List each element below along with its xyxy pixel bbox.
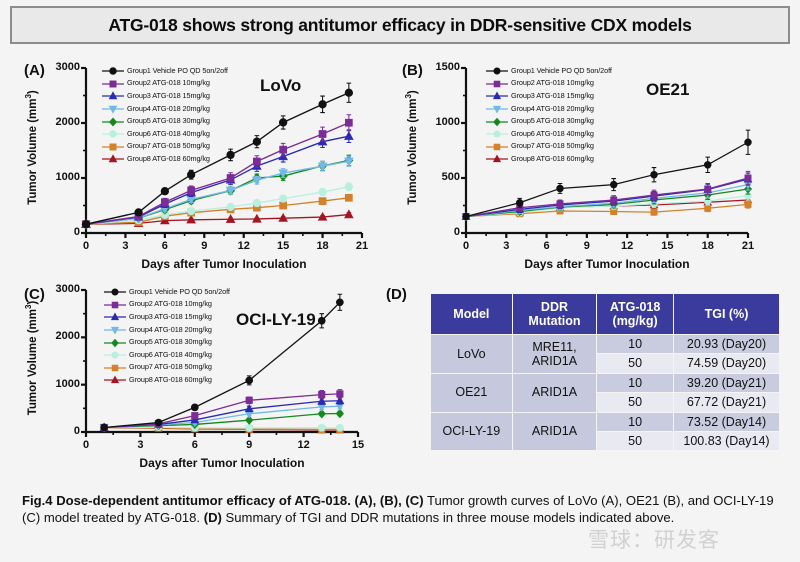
table-cell-dose: 10 <box>597 335 674 354</box>
legend-marker-icon <box>102 373 128 385</box>
legend-item-label: Group8 ATG-018 60mg/kg <box>129 375 212 384</box>
panel-d-letter: (D) <box>386 286 407 303</box>
legend-item[interactable]: Group1 Vehicle PO QD 5on/2off <box>102 285 230 298</box>
legend-item[interactable]: Group6 ATG-018 40mg/kg <box>100 127 228 140</box>
y-axis-title: Tumor Volume (mm3) <box>24 284 39 432</box>
x-tick-label: 3 <box>125 439 155 451</box>
watermark: 雪球：研发客 <box>588 524 720 554</box>
x-tick-label: 12 <box>229 240 259 252</box>
x-tick-label: 9 <box>572 240 602 252</box>
x-tick-label: 21 <box>733 240 763 252</box>
table-cell-model: OCI-LY-19 <box>431 412 513 451</box>
table-cell-mutation: MRE11,ARID1A <box>512 335 597 374</box>
table-cell-dose: 50 <box>597 431 674 450</box>
legend-marker-icon <box>100 127 126 139</box>
legend-marker-icon <box>102 323 128 335</box>
figure-root: ATG-018 shows strong antitumor efficacy … <box>0 0 800 562</box>
legend-item-label: Group1 Vehicle PO QD 5on/2off <box>511 66 612 75</box>
y-tick-label: 3000 <box>38 283 80 295</box>
legend-marker-icon <box>484 127 510 139</box>
y-tick-label: 500 <box>418 171 460 183</box>
y-tick-label: 1000 <box>418 116 460 128</box>
legend-item[interactable]: Group6 ATG-018 40mg/kg <box>102 348 230 361</box>
table-header-line: Model <box>435 307 508 321</box>
y-axis-title: Tumor Volume (mm3) <box>404 62 419 233</box>
table-cell-dose: 50 <box>597 393 674 412</box>
table-cell-mutation: ARID1A <box>512 412 597 451</box>
legend-item[interactable]: Group2 ATG-018 10mg/kg <box>484 77 612 90</box>
y-tick-label: 2000 <box>38 330 80 342</box>
table-header-line: ATG-018 <box>601 300 669 314</box>
table-cell-mutation: ARID1A <box>512 373 597 412</box>
panel-a: (A) 0100020003000036912151821Tumor Volum… <box>20 58 390 273</box>
legend-item[interactable]: Group8 ATG-018 60mg/kg <box>102 373 230 386</box>
legend-item[interactable]: Group1 Vehicle PO QD 5on/2off <box>484 64 612 77</box>
legend-marker-icon <box>100 77 126 89</box>
legend-item[interactable]: Group1 Vehicle PO QD 5on/2off <box>100 64 228 77</box>
legend-item-label: Group5 ATG-018 30mg/kg <box>511 116 594 125</box>
table-cell-dose: 50 <box>597 354 674 373</box>
panel-c: (C) 010002000300003691215Tumor Volume (m… <box>20 282 390 482</box>
legend-item-label: Group7 ATG-018 50mg/kg <box>127 141 210 150</box>
caption-bold-1: Fig.4 Dose-dependent antitumor efficacy … <box>22 493 424 508</box>
table-cell-mutation-line: MRE11, <box>517 340 593 354</box>
y-tick-label: 0 <box>38 226 80 238</box>
legend-item-label: Group4 ATG-018 20mg/kg <box>511 104 594 113</box>
y-axis-title: Tumor Volume (mm3) <box>24 62 39 233</box>
legend-marker-icon <box>102 348 128 360</box>
table-cell-model: LoVo <box>431 335 513 374</box>
x-tick-label: 15 <box>268 240 298 252</box>
legend-item[interactable]: Group4 ATG-018 20mg/kg <box>484 102 612 115</box>
chart-legend: Group1 Vehicle PO QD 5on/2offGroup2 ATG-… <box>102 285 230 386</box>
table-cell-tgi: 67.72 (Day21) <box>674 393 780 412</box>
legend-marker-icon <box>100 140 126 152</box>
caption-bold-2: (D) <box>204 510 222 525</box>
legend-item[interactable]: Group7 ATG-018 50mg/kg <box>484 140 612 153</box>
table-header-cell: DDRMutation <box>512 294 597 335</box>
legend-item-label: Group6 ATG-018 40mg/kg <box>127 129 210 138</box>
legend-item-label: Group2 ATG-018 10mg/kg <box>127 78 210 87</box>
table-cell-tgi: 39.20 (Day21) <box>674 373 780 392</box>
legend-item[interactable]: Group2 ATG-018 10mg/kg <box>102 298 230 311</box>
x-tick-label: 6 <box>532 240 562 252</box>
table-row: OE21ARID1A1039.20 (Day21) <box>431 373 780 392</box>
x-tick-label: 3 <box>110 240 140 252</box>
legend-item[interactable]: Group4 ATG-018 20mg/kg <box>100 102 228 115</box>
legend-marker-icon <box>102 310 128 322</box>
legend-marker-icon <box>484 115 510 127</box>
x-tick-label: 3 <box>491 240 521 252</box>
legend-item[interactable]: Group5 ATG-018 30mg/kg <box>100 114 228 127</box>
legend-marker-icon <box>100 152 126 164</box>
x-tick-label: 6 <box>180 439 210 451</box>
x-tick-label: 0 <box>71 439 101 451</box>
legend-marker-icon <box>100 89 126 101</box>
legend-marker-icon <box>102 361 128 373</box>
legend-item-label: Group1 Vehicle PO QD 5on/2off <box>129 287 230 296</box>
table-cell-tgi: 20.93 (Day20) <box>674 335 780 354</box>
legend-item-label: Group3 ATG-018 15mg/kg <box>129 312 212 321</box>
chart-legend: Group1 Vehicle PO QD 5on/2offGroup2 ATG-… <box>100 64 228 165</box>
x-tick-label: 12 <box>289 439 319 451</box>
table-cell-dose: 10 <box>597 373 674 392</box>
table-header-line: Mutation <box>517 314 593 328</box>
legend-item-label: Group3 ATG-018 15mg/kg <box>511 91 594 100</box>
x-axis-title: Days after Tumor Inoculation <box>86 456 358 470</box>
x-tick-label: 15 <box>343 439 373 451</box>
legend-item[interactable]: Group5 ATG-018 30mg/kg <box>484 114 612 127</box>
figure-title-banner: ATG-018 shows strong antitumor efficacy … <box>10 6 790 44</box>
x-tick-label: 18 <box>693 240 723 252</box>
series-7 <box>82 194 352 228</box>
legend-item-label: Group6 ATG-018 40mg/kg <box>511 129 594 138</box>
x-tick-label: 12 <box>612 240 642 252</box>
series-6 <box>82 183 353 228</box>
legend-marker-icon <box>100 64 126 76</box>
legend-item[interactable]: Group7 ATG-018 50mg/kg <box>102 361 230 374</box>
legend-marker-icon <box>102 285 128 297</box>
legend-item-label: Group2 ATG-018 10mg/kg <box>129 299 212 308</box>
panel-a-model-label: LoVo <box>260 76 301 96</box>
legend-marker-icon <box>102 336 128 348</box>
table-header-line: (mg/kg) <box>601 314 669 328</box>
table-header-cell: TGI (%) <box>674 294 780 335</box>
legend-marker-icon <box>484 64 510 76</box>
legend-item[interactable]: Group2 ATG-018 10mg/kg <box>100 77 228 90</box>
x-axis-title: Days after Tumor Inoculation <box>466 257 748 271</box>
legend-marker-icon <box>100 102 126 114</box>
legend-item-label: Group1 Vehicle PO QD 5on/2off <box>127 66 228 75</box>
y-tick-label: 1000 <box>38 171 80 183</box>
table-header-cell: ATG-018(mg/kg) <box>597 294 674 335</box>
legend-marker-icon <box>484 140 510 152</box>
figure-title-text: ATG-018 shows strong antitumor efficacy … <box>108 15 691 36</box>
x-axis-title: Days after Tumor Inoculation <box>86 257 362 271</box>
legend-item[interactable]: Group3 ATG-018 15mg/kg <box>102 310 230 323</box>
legend-item[interactable]: Group5 ATG-018 30mg/kg <box>102 335 230 348</box>
legend-marker-icon <box>100 115 126 127</box>
y-tick-label: 1000 <box>38 378 80 390</box>
table-cell-tgi: 74.59 (Day20) <box>674 354 780 373</box>
table-header-line: TGI (%) <box>678 307 775 321</box>
x-tick-label: 6 <box>150 240 180 252</box>
legend-item-label: Group4 ATG-018 20mg/kg <box>129 325 212 334</box>
legend-marker-icon <box>484 152 510 164</box>
legend-marker-icon <box>484 89 510 101</box>
legend-item-label: Group5 ATG-018 30mg/kg <box>127 116 210 125</box>
table-row: OCI-LY-19ARID1A1073.52 (Day14) <box>431 412 780 431</box>
x-tick-label: 18 <box>308 240 338 252</box>
legend-item[interactable]: Group8 ATG-018 60mg/kg <box>484 152 612 165</box>
legend-item-label: Group3 ATG-018 15mg/kg <box>127 91 210 100</box>
x-tick-label: 9 <box>189 240 219 252</box>
x-tick-label: 21 <box>347 240 377 252</box>
panel-b: (B) 050010001500036912151821Tumor Volume… <box>398 58 778 273</box>
y-tick-label: 0 <box>418 226 460 238</box>
tgi-summary-table: ModelDDRMutationATG-018(mg/kg)TGI (%)LoV… <box>430 293 780 451</box>
legend-item-label: Group2 ATG-018 10mg/kg <box>511 78 594 87</box>
table-cell-tgi: 100.83 (Day14) <box>674 431 780 450</box>
legend-marker-icon <box>484 102 510 114</box>
legend-item-label: Group7 ATG-018 50mg/kg <box>129 362 212 371</box>
table-cell-mutation-line: ARID1A <box>517 385 593 399</box>
table-cell-tgi: 73.52 (Day14) <box>674 412 780 431</box>
table-header-row: ModelDDRMutationATG-018(mg/kg)TGI (%) <box>431 294 780 335</box>
y-tick-label: 3000 <box>38 61 80 73</box>
legend-item[interactable]: Group6 ATG-018 40mg/kg <box>484 127 612 140</box>
legend-item[interactable]: Group3 ATG-018 15mg/kg <box>484 89 612 102</box>
table-header-cell: Model <box>431 294 513 335</box>
table-header-line: DDR <box>517 300 593 314</box>
chart-legend: Group1 Vehicle PO QD 5on/2offGroup2 ATG-… <box>484 64 612 165</box>
legend-marker-icon <box>484 77 510 89</box>
table-row: LoVoMRE11,ARID1A1020.93 (Day20) <box>431 335 780 354</box>
legend-item-label: Group8 ATG-018 60mg/kg <box>511 154 594 163</box>
y-tick-label: 0 <box>38 425 80 437</box>
legend-item[interactable]: Group7 ATG-018 50mg/kg <box>100 140 228 153</box>
legend-item-label: Group7 ATG-018 50mg/kg <box>511 141 594 150</box>
x-tick-label: 0 <box>451 240 481 252</box>
legend-item-label: Group8 ATG-018 60mg/kg <box>127 154 210 163</box>
panel-b-model-label: OE21 <box>646 80 689 100</box>
table-cell-mutation-line: ARID1A <box>517 424 593 438</box>
legend-item-label: Group5 ATG-018 30mg/kg <box>129 337 212 346</box>
legend-item-label: Group6 ATG-018 40mg/kg <box>129 350 212 359</box>
x-tick-label: 15 <box>652 240 682 252</box>
panel-c-model-label: OCI-LY-19 <box>236 310 316 330</box>
legend-item[interactable]: Group4 ATG-018 20mg/kg <box>102 323 230 336</box>
y-tick-label: 2000 <box>38 116 80 128</box>
y-tick-label: 1500 <box>418 61 460 73</box>
figure-caption: Fig.4 Dose-dependent antitumor efficacy … <box>22 492 778 527</box>
x-tick-label: 9 <box>234 439 264 451</box>
table-cell-mutation-line: ARID1A <box>517 354 593 368</box>
x-tick-label: 0 <box>71 240 101 252</box>
legend-item-label: Group4 ATG-018 20mg/kg <box>127 104 210 113</box>
panel-d: (D) ModelDDRMutationATG-018(mg/kg)TGI (%… <box>384 282 780 482</box>
table-cell-model: OE21 <box>431 373 513 412</box>
legend-marker-icon <box>102 298 128 310</box>
legend-item[interactable]: Group3 ATG-018 15mg/kg <box>100 89 228 102</box>
legend-item[interactable]: Group8 ATG-018 60mg/kg <box>100 152 228 165</box>
table-cell-dose: 10 <box>597 412 674 431</box>
